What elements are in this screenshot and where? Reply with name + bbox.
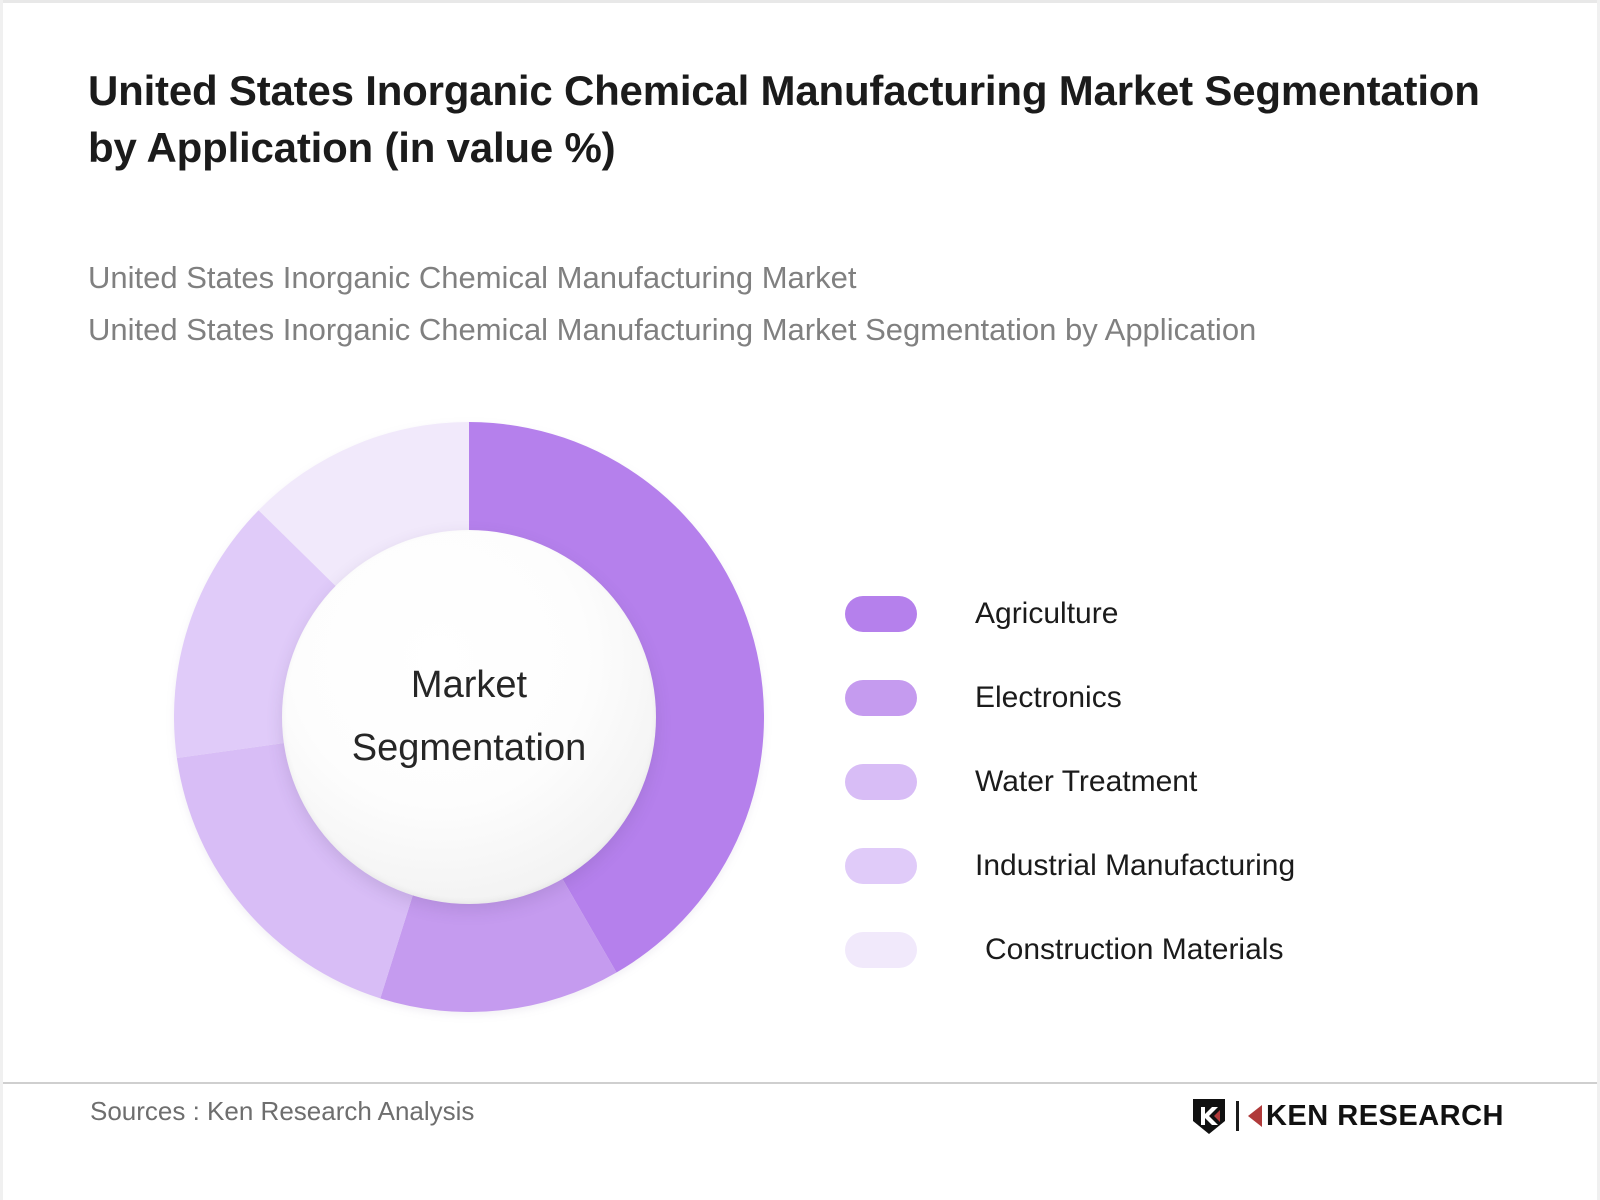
donut-center-hub: Market Segmentation [282,530,656,904]
legend-item-industrial-manufacturing[interactable]: Industrial Manufacturing [845,824,1465,908]
brand-name-text: KEN RESEARCH [1266,1100,1504,1133]
subtitle-line-2: United States Inorganic Chemical Manufac… [88,304,1338,356]
footer-divider [3,1082,1597,1084]
legend-label-water-treatment: Water Treatment [975,765,1197,799]
legend-swatch-construction-materials [845,932,917,968]
legend-item-construction-materials[interactable]: Construction Materials [845,908,1465,992]
page-title: United States Inorganic Chemical Manufac… [88,62,1508,176]
legend-label-electronics: Electronics [975,681,1122,715]
chart-legend: Agriculture Electronics Water Treatment … [845,572,1465,992]
legend-swatch-water-treatment [845,764,917,800]
brand-triangle-icon [1248,1105,1262,1127]
subtitle-line-1: United States Inorganic Chemical Manufac… [88,252,1338,304]
legend-label-agriculture: Agriculture [975,597,1118,631]
ken-research-shield-icon [1189,1096,1229,1136]
legend-swatch-electronics [845,680,917,716]
brand-divider [1236,1101,1239,1131]
slide-left-border [0,0,3,1200]
brand-logo: KEN RESEARCH [1189,1094,1504,1138]
donut-center-line-1: Market [352,654,587,717]
legend-swatch-agriculture [845,596,917,632]
legend-item-electronics[interactable]: Electronics [845,656,1465,740]
donut-center-line-2: Segmentation [352,717,587,780]
legend-item-water-treatment[interactable]: Water Treatment [845,740,1465,824]
slide-canvas: United States Inorganic Chemical Manufac… [0,0,1600,1200]
legend-swatch-industrial-manufacturing [845,848,917,884]
donut-wrapper: Market Segmentation [174,422,764,1012]
footer-source-text: Sources : Ken Research Analysis [90,1096,474,1127]
slide-top-border [0,0,1600,3]
legend-label-construction-materials: Construction Materials [985,933,1283,967]
legend-item-agriculture[interactable]: Agriculture [845,572,1465,656]
donut-center-label: Market Segmentation [352,654,587,779]
legend-label-industrial-manufacturing: Industrial Manufacturing [975,849,1295,883]
page-subtitle: United States Inorganic Chemical Manufac… [88,252,1338,356]
donut-chart: Market Segmentation [174,422,764,1012]
